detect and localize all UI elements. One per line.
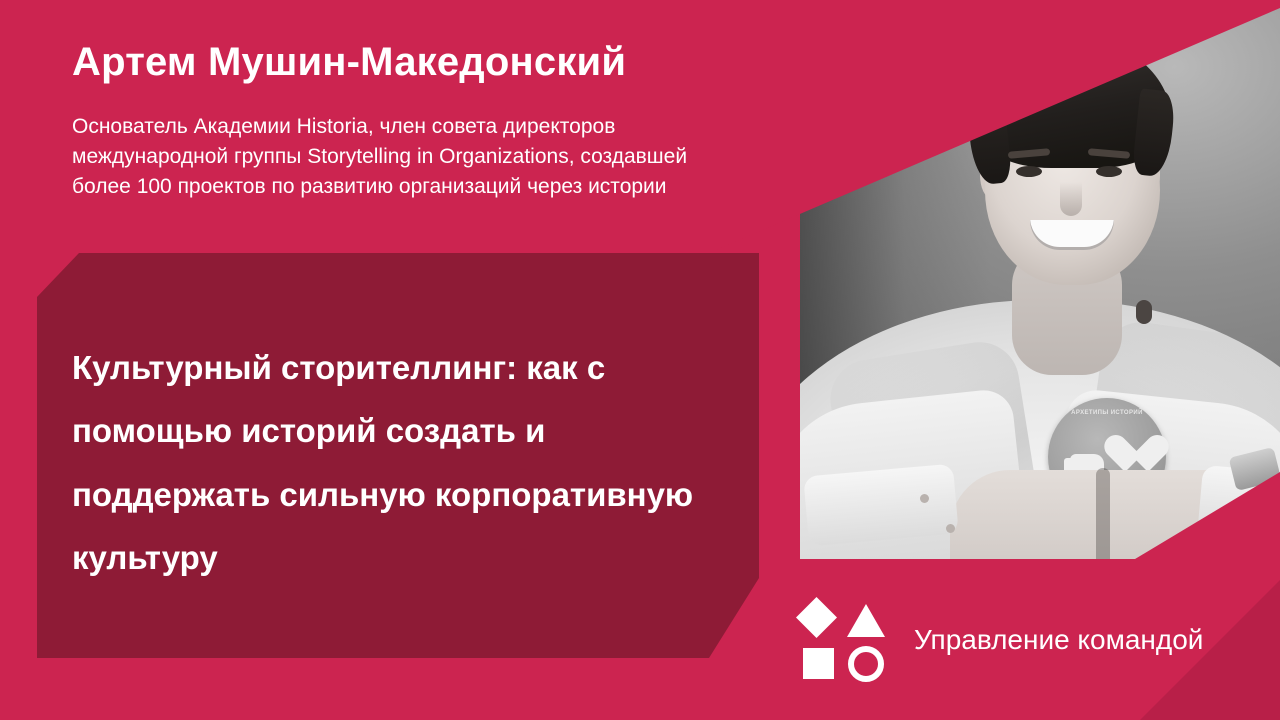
shirt-button-2: [946, 524, 955, 533]
nose: [1060, 182, 1082, 216]
eye-right: [1096, 166, 1122, 177]
speaker-name: Артем Мушин-Македонский: [72, 40, 732, 84]
talk-title: Культурный сторителлинг: как с помощью и…: [72, 336, 732, 589]
eye-left: [1016, 166, 1042, 177]
badge-top-text: АРХЕТИПЫ ИСТОРИЙ: [1048, 410, 1166, 416]
presentation-slide: АРХЕТИПЫ ИСТОРИЙ ПУТЬ К СЕРДЦУ Артем Муш…: [0, 0, 1280, 720]
finger-shadow: [1096, 468, 1110, 559]
lapel-microphone: [1136, 300, 1152, 324]
circle-icon: [848, 646, 884, 682]
track-shapes-logo: [800, 601, 880, 679]
square-icon: [803, 648, 834, 679]
diamond-icon: [796, 597, 837, 638]
shirt-button-1: [920, 494, 929, 503]
speaker-bio: Основатель Академии Historia, член совет…: [72, 112, 712, 201]
track-label: Управление командой: [914, 620, 1203, 661]
triangle-icon: [847, 604, 885, 637]
track-badge: Управление командой: [800, 590, 1240, 690]
cuff-left: [803, 464, 959, 547]
